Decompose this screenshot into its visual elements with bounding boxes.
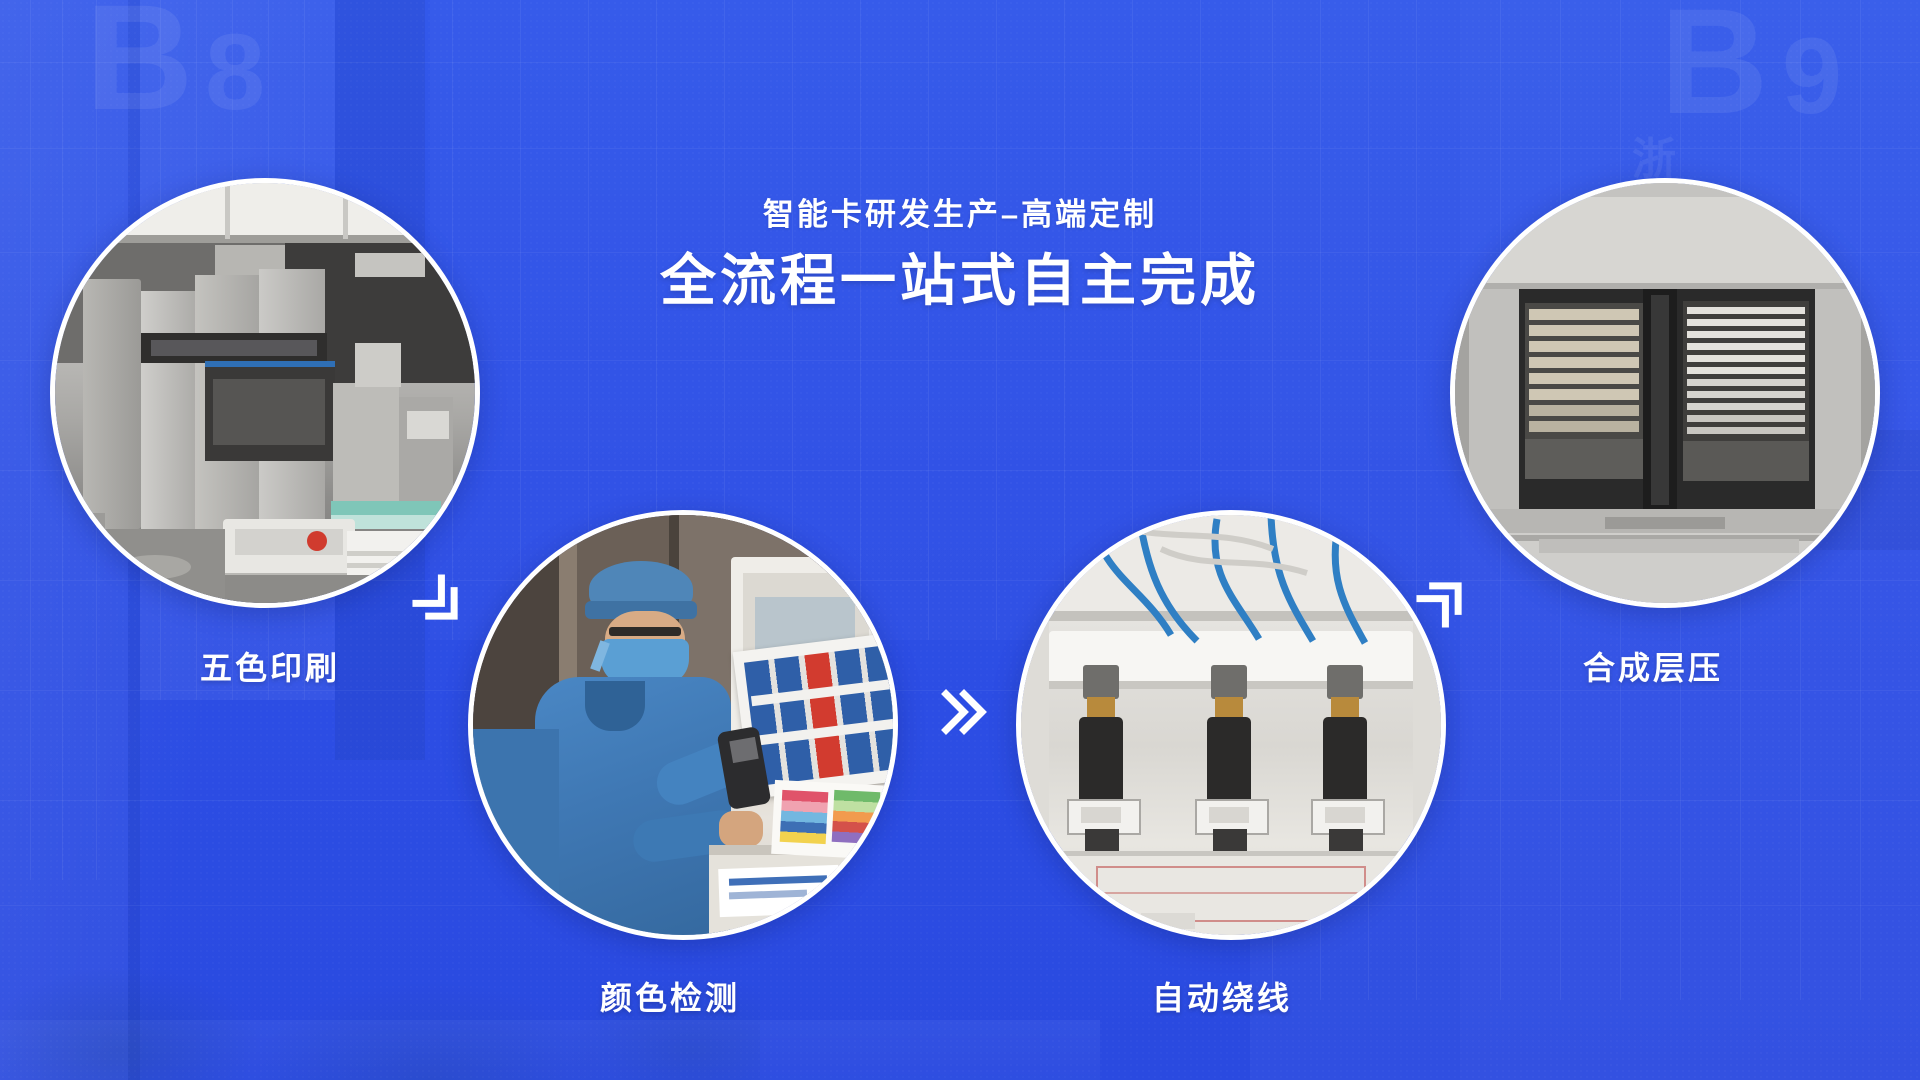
step-photo-color-check[interactable] xyxy=(468,510,898,940)
chevron-right-icon xyxy=(930,680,994,744)
automatic-coil-winding-machine-photo xyxy=(1021,515,1441,935)
watermark-right-letter: B xyxy=(1660,0,1768,136)
headline-subtitle: 智能卡研发生产–高端定制 xyxy=(0,196,1920,233)
watermark-left-number: 8 xyxy=(205,18,265,126)
promo-banner: B 8 B 9 浙 智能卡研发生产–高端定制 全流程一站式自主完成 xyxy=(0,0,1920,1080)
chevron-up-right-icon xyxy=(1412,568,1476,632)
watermark-right-cn: 浙 xyxy=(1632,138,1676,182)
color-inspection-operator-photo xyxy=(473,515,893,935)
watermark-left-letter: B xyxy=(85,0,195,132)
step-label-color-check: 颜色检测 xyxy=(600,973,740,1019)
step-label-printing: 五色印刷 xyxy=(200,643,340,689)
chevron-down-right-icon xyxy=(408,570,472,634)
step-label-winding: 自动绕线 xyxy=(1152,973,1292,1019)
watermark-right-number: 9 xyxy=(1782,22,1842,130)
headline-block: 智能卡研发生产–高端定制 全流程一站式自主完成 xyxy=(0,196,1920,313)
step-label-lamination: 合成层压 xyxy=(1583,643,1723,689)
step-photo-winding[interactable] xyxy=(1016,510,1446,940)
headline-title: 全流程一站式自主完成 xyxy=(0,249,1920,313)
